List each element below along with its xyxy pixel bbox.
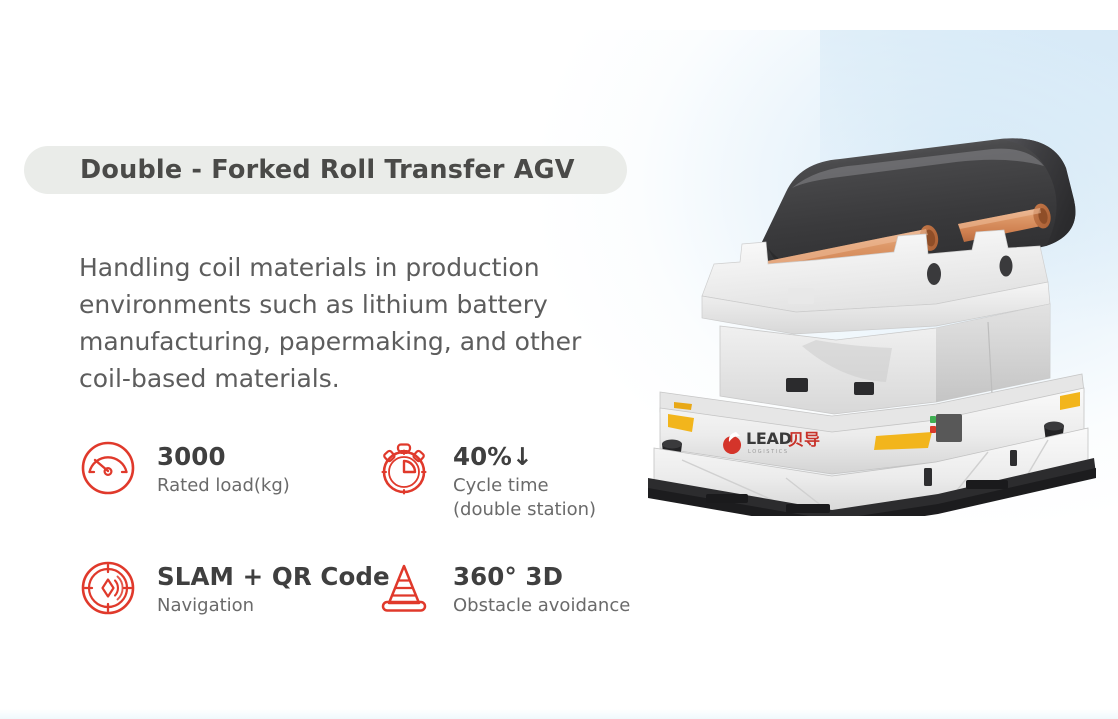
spec-value: 3000 bbox=[157, 444, 290, 470]
spec-text: SLAM + QR Code Navigation bbox=[145, 560, 390, 618]
spec-label: Rated load(kg) bbox=[157, 474, 290, 498]
page-title: Double - Forked Roll Transfer AGV bbox=[80, 155, 575, 185]
spec-label: Navigation bbox=[157, 594, 390, 618]
spec-item-rated-load: 3000 Rated load(kg) bbox=[79, 440, 375, 522]
svg-text:LEAD: LEAD bbox=[746, 429, 792, 448]
agv-control-panel bbox=[936, 414, 962, 442]
product-image-agv: LEAD 贝导 LOGISTICS bbox=[636, 96, 1106, 516]
spec-label-secondary: (double station) bbox=[453, 498, 596, 522]
spec-label: Cycle time bbox=[453, 474, 596, 498]
spec-value: 40%↓ bbox=[453, 444, 596, 470]
spec-value: 360° 3D bbox=[453, 564, 630, 590]
traffic-cone-icon bbox=[375, 559, 441, 625]
stopwatch-icon bbox=[375, 439, 441, 505]
spec-label: Obstacle avoidance bbox=[453, 594, 630, 618]
compass-navigation-icon bbox=[79, 559, 145, 625]
spec-row: 3000 Rated load(kg) bbox=[79, 440, 639, 522]
background-top-white-band bbox=[0, 0, 1118, 30]
spec-text: 3000 Rated load(kg) bbox=[145, 440, 290, 498]
spec-text: 360° 3D Obstacle avoidance bbox=[441, 560, 630, 618]
product-description: Handling coil materials in production en… bbox=[79, 249, 639, 397]
spec-item-obstacle-avoidance: 360° 3D Obstacle avoidance bbox=[375, 560, 639, 625]
title-pill: Double - Forked Roll Transfer AGV bbox=[24, 146, 627, 194]
svg-text:贝导: 贝导 bbox=[788, 430, 820, 449]
spec-item-cycle-time: 40%↓ Cycle time (double station) bbox=[375, 440, 639, 522]
background-bottom-tint bbox=[0, 709, 1118, 719]
product-slide: LEAD 贝导 LOGISTICS bbox=[0, 0, 1118, 719]
svg-text:LOGISTICS: LOGISTICS bbox=[748, 449, 789, 455]
spec-text: 40%↓ Cycle time (double station) bbox=[441, 440, 596, 522]
gauge-icon bbox=[79, 439, 145, 505]
spec-row: SLAM + QR Code Navigation 360° 3D bbox=[79, 560, 639, 625]
spec-item-navigation: SLAM + QR Code Navigation bbox=[79, 560, 375, 625]
spec-value: SLAM + QR Code bbox=[157, 564, 390, 590]
